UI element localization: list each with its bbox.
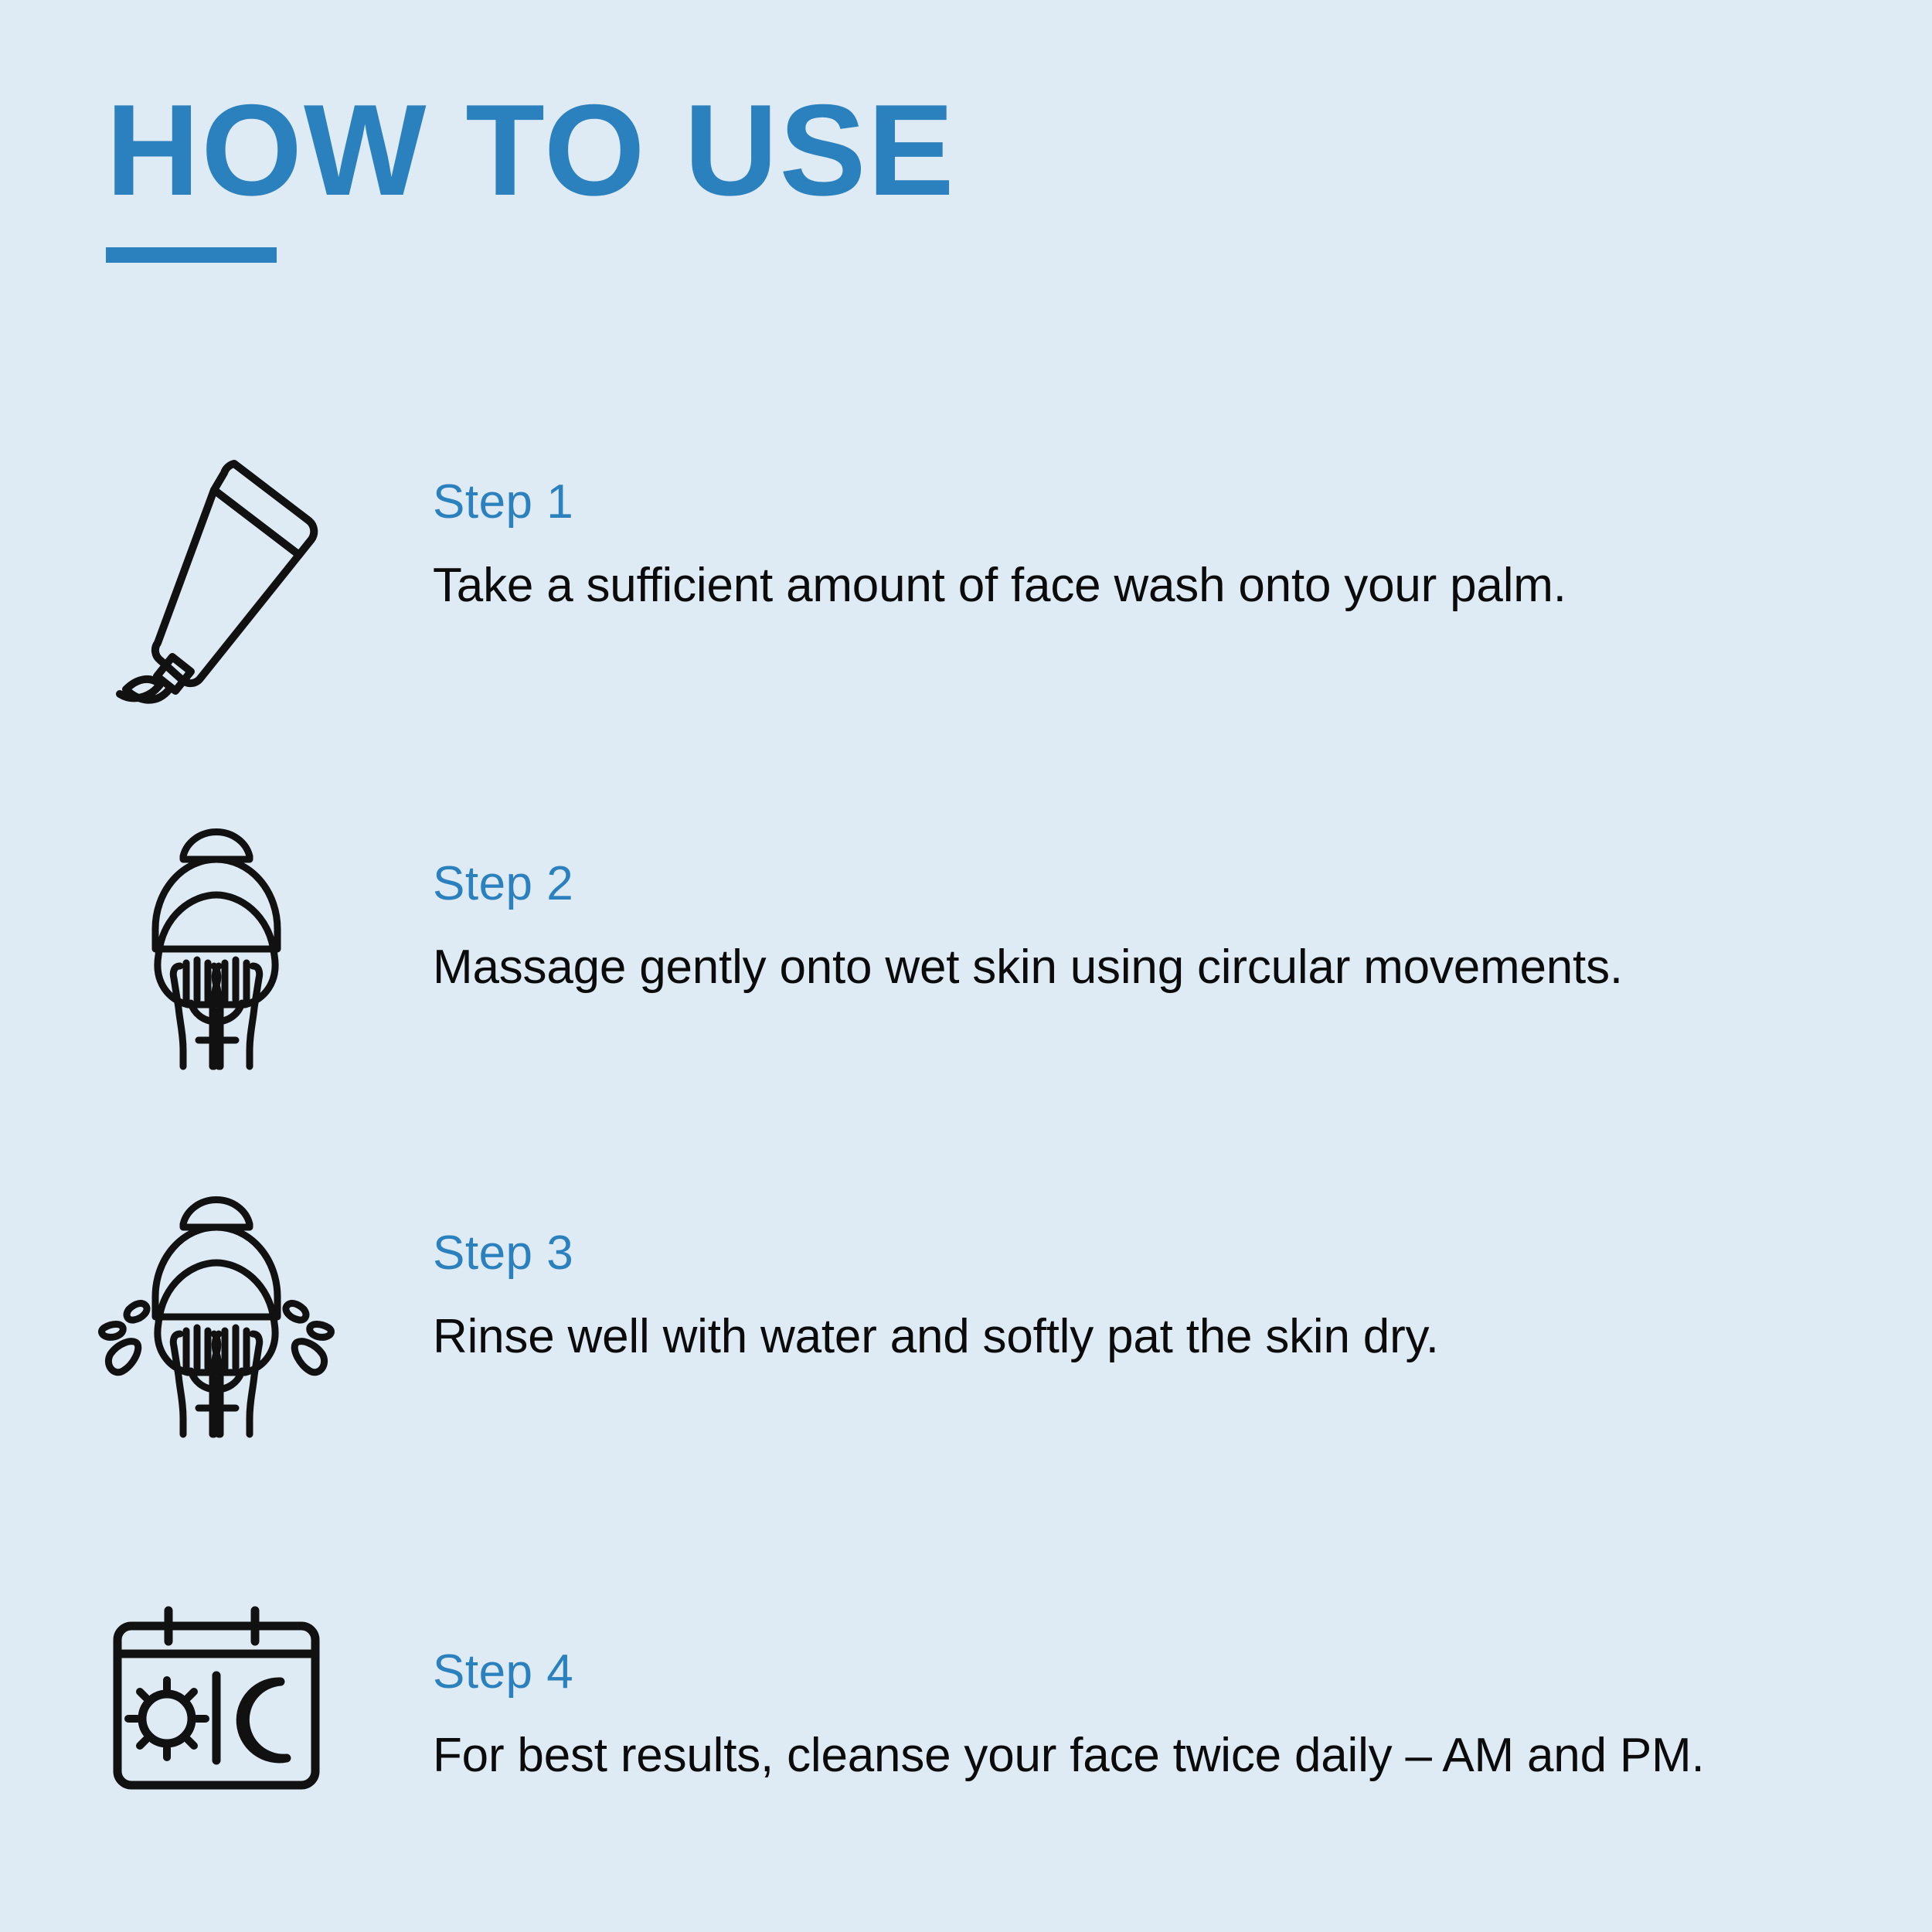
how-to-use-page: HOW TO USE xyxy=(0,0,1932,1932)
face-washing-icon xyxy=(128,811,305,1066)
step-label: Step 4 xyxy=(433,1646,1932,1699)
step-text-block: Step 2 Massage gently onto wet skin usin… xyxy=(433,804,1932,995)
step-description: Rinse well with water and softly pat the… xyxy=(433,1309,1932,1364)
step-icon-container xyxy=(0,433,433,705)
step-icon-container xyxy=(0,804,433,1066)
cosmetic-tube-icon xyxy=(104,450,328,705)
calendar-sun-moon-icon xyxy=(100,1606,332,1799)
step-row: Step 1 Take a sufficient amount of face … xyxy=(0,433,1932,804)
title-underline-rule xyxy=(106,247,277,263)
step-description: Take a sufficient amount of face wash on… xyxy=(433,558,1932,613)
step-text-block: Step 4 For best results, cleanse your fa… xyxy=(433,1546,1932,1783)
face-rinsing-splash-icon xyxy=(89,1179,344,1434)
steps-list: Step 1 Take a sufficient amount of face … xyxy=(0,433,1932,1917)
step-label: Step 1 xyxy=(433,476,1932,529)
step-icon-container xyxy=(0,1175,433,1434)
step-text-block: Step 3 Rinse well with water and softly … xyxy=(433,1175,1932,1364)
step-description: For best results, cleanse your face twic… xyxy=(433,1728,1932,1783)
step-label: Step 3 xyxy=(433,1227,1932,1280)
step-row: Step 4 For best results, cleanse your fa… xyxy=(0,1546,1932,1917)
step-icon-container xyxy=(0,1546,433,1799)
step-label: Step 2 xyxy=(433,858,1932,910)
page-title: HOW TO USE xyxy=(106,85,956,215)
page-header: HOW TO USE xyxy=(106,85,956,263)
step-row: Step 3 Rinse well with water and softly … xyxy=(0,1175,1932,1546)
step-text-block: Step 1 Take a sufficient amount of face … xyxy=(433,433,1932,613)
step-description: Massage gently onto wet skin using circu… xyxy=(433,940,1932,995)
step-row: Step 2 Massage gently onto wet skin usin… xyxy=(0,804,1932,1175)
